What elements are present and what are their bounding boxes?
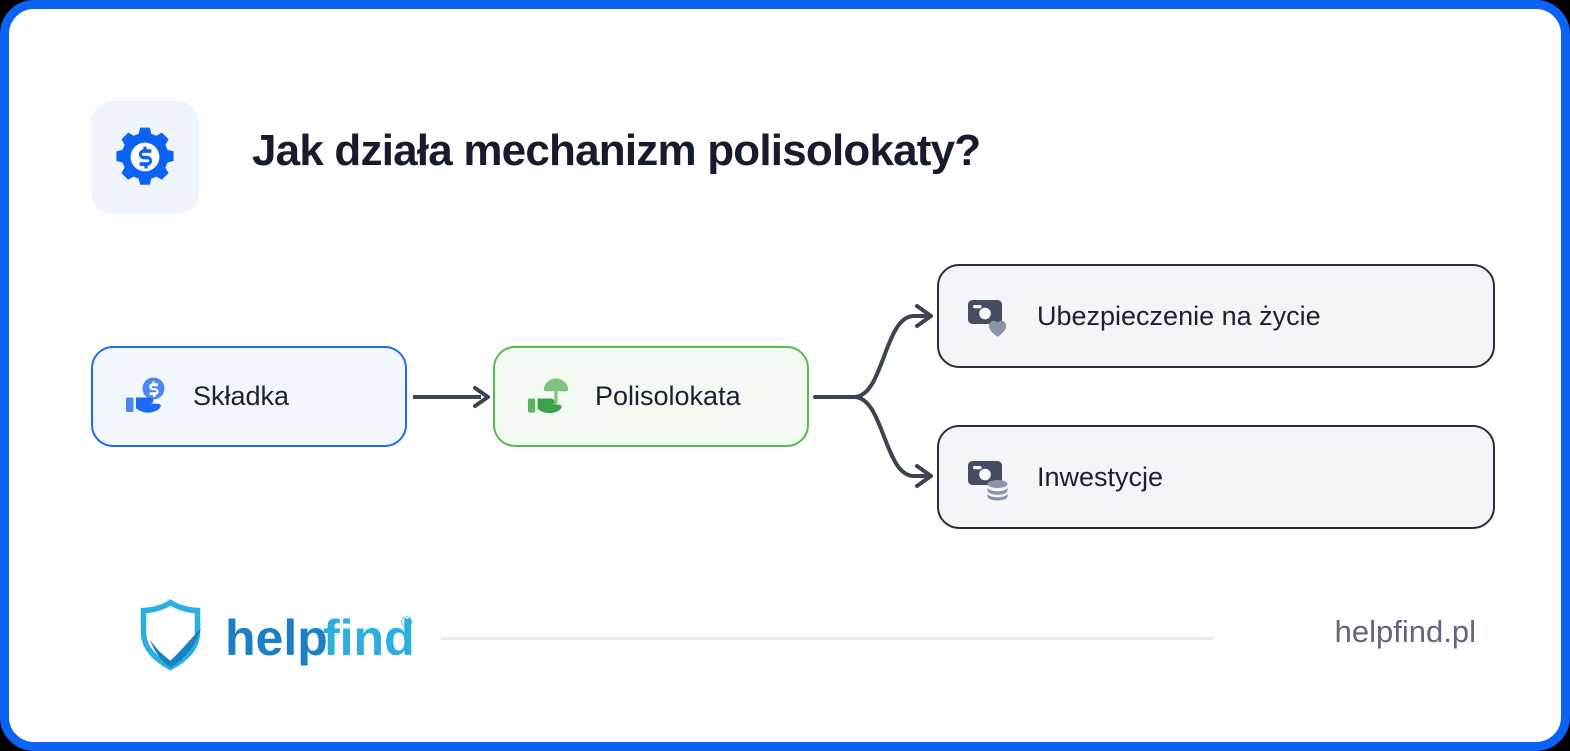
node-ubezpieczenie[interactable]: Ubezpieczenie na życie	[937, 264, 1495, 368]
card-coins-icon	[965, 453, 1013, 501]
helpfind-logo[interactable]: help find ®	[137, 597, 415, 678]
node-skladka[interactable]: Składka	[91, 346, 407, 447]
logo-text-help: help	[225, 610, 328, 666]
node-inwestycje[interactable]: Inwestycje	[937, 425, 1495, 529]
footer-divider	[441, 637, 1214, 640]
node-polisolokata[interactable]: Polisolokata	[493, 346, 809, 447]
shield-check-icon: help find ®	[137, 597, 415, 673]
node-ubezpieczenie-label: Ubezpieczenie na życie	[1037, 301, 1321, 332]
hand-holding-umbrella-icon	[525, 373, 573, 421]
infographic-frame: Jak działa mechanizm polisolokaty?	[0, 0, 1570, 751]
edge-polisolokata-branch	[815, 306, 931, 486]
hand-holding-coin-icon	[123, 373, 171, 421]
logo-registered-mark: ®	[401, 614, 412, 631]
card-heart-icon	[965, 292, 1013, 340]
node-inwestycje-label: Inwestycje	[1037, 462, 1163, 493]
node-polisolokata-label: Polisolokata	[595, 381, 741, 412]
edge-skladka-to-polisolokata	[413, 388, 488, 406]
footer-url: helpfind.pl	[1335, 614, 1476, 650]
node-skladka-label: Składka	[193, 381, 289, 412]
